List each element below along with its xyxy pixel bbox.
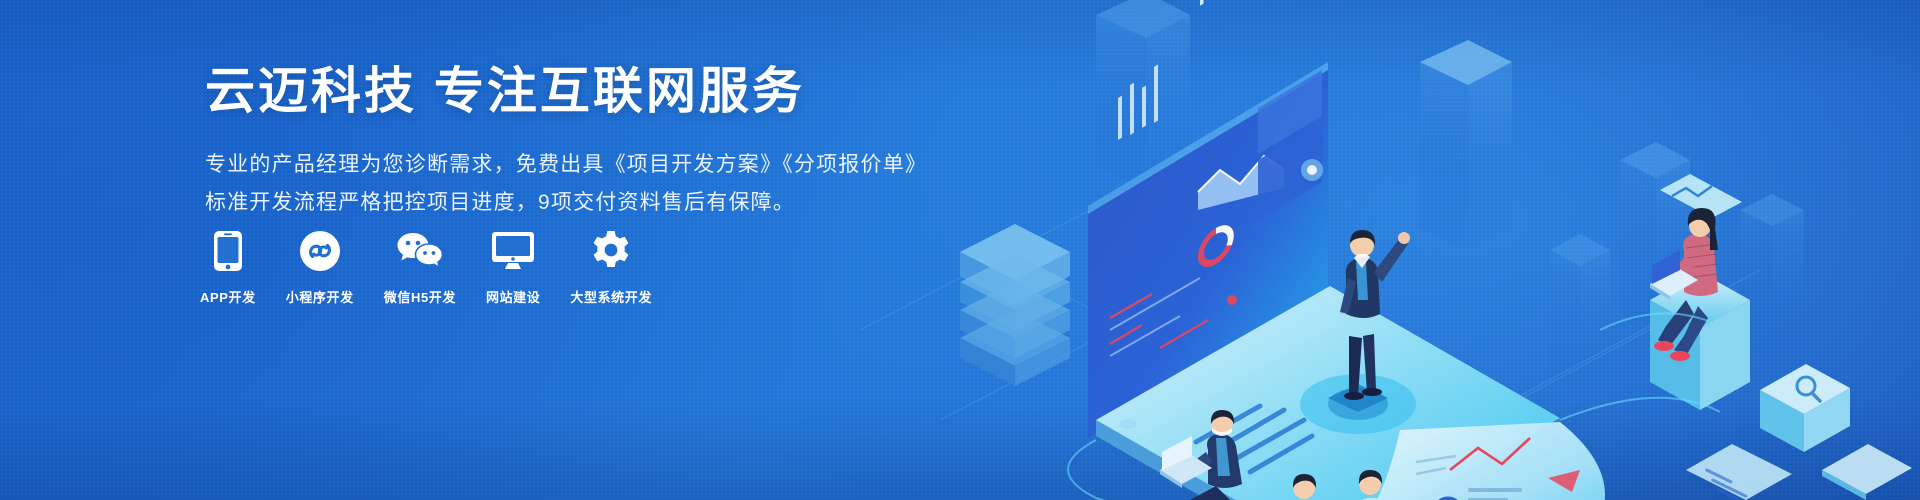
- mini-chart-popup: [1660, 174, 1742, 228]
- banner-subtitle: 专业的产品经理为您诊断需求，免费出具《项目开发方案》《分项报价单》 标准开发流程…: [205, 148, 927, 220]
- server-stack: [960, 224, 1070, 386]
- mobile-phone-icon: [205, 228, 251, 274]
- service-label: 大型系统开发: [570, 287, 652, 306]
- service-item-website[interactable]: 网站建设: [486, 228, 540, 306]
- service-item-mini-program[interactable]: 小程序开发: [286, 228, 354, 306]
- desktop-monitor-icon: [490, 228, 536, 274]
- city-towers: [1096, 0, 1804, 390]
- hero-illustration: [860, 0, 1920, 500]
- service-item-wechat-h5[interactable]: 微信H5开发: [384, 228, 456, 306]
- standing-person-pointing: [1340, 230, 1410, 400]
- iso-grid: [860, 205, 1760, 470]
- woman-on-pedestal-with-laptop: [1650, 174, 1750, 410]
- two-people-talking: [1288, 470, 1392, 500]
- service-label: 微信H5开发: [384, 287, 456, 306]
- gear-icon: [588, 228, 634, 274]
- search-cube: [1760, 364, 1850, 452]
- banner-copy: 云迈科技 专注互联网服务 专业的产品经理为您诊断需求，免费出具《项目开发方案》《…: [205, 62, 927, 220]
- mini-program-icon: [297, 228, 343, 274]
- service-item-app[interactable]: APP开发: [200, 228, 256, 306]
- connector-paths: [1068, 313, 1720, 500]
- tablet-platform: [1096, 286, 1560, 500]
- service-label: 小程序开发: [286, 287, 354, 306]
- service-label: APP开发: [200, 287, 256, 306]
- dashboard-screen: [1088, 0, 1328, 438]
- bottom-right-chart-chip: [1686, 444, 1792, 500]
- service-label: 网站建设: [486, 287, 540, 306]
- wechat-icon: [397, 228, 443, 274]
- right-platform-block: [1822, 444, 1912, 500]
- promo-banner: 云迈科技 专注互联网服务 专业的产品经理为您诊断需求，免费出具《项目开发方案》《…: [0, 0, 1920, 500]
- service-item-large-system[interactable]: 大型系统开发: [570, 228, 652, 306]
- subtitle-line-2: 标准开发流程严格把控项目进度，9项交付资料售后有保障。: [205, 186, 927, 220]
- data-report-sheet: [1330, 422, 1605, 500]
- subtitle-line-1: 专业的产品经理为您诊断需求，免费出具《项目开发方案》《分项报价单》: [205, 148, 927, 182]
- seated-person-with-laptop: [1160, 410, 1244, 500]
- banner-headline: 云迈科技 专注互联网服务: [205, 62, 927, 120]
- service-list: APP开发 小程序开发: [200, 228, 652, 306]
